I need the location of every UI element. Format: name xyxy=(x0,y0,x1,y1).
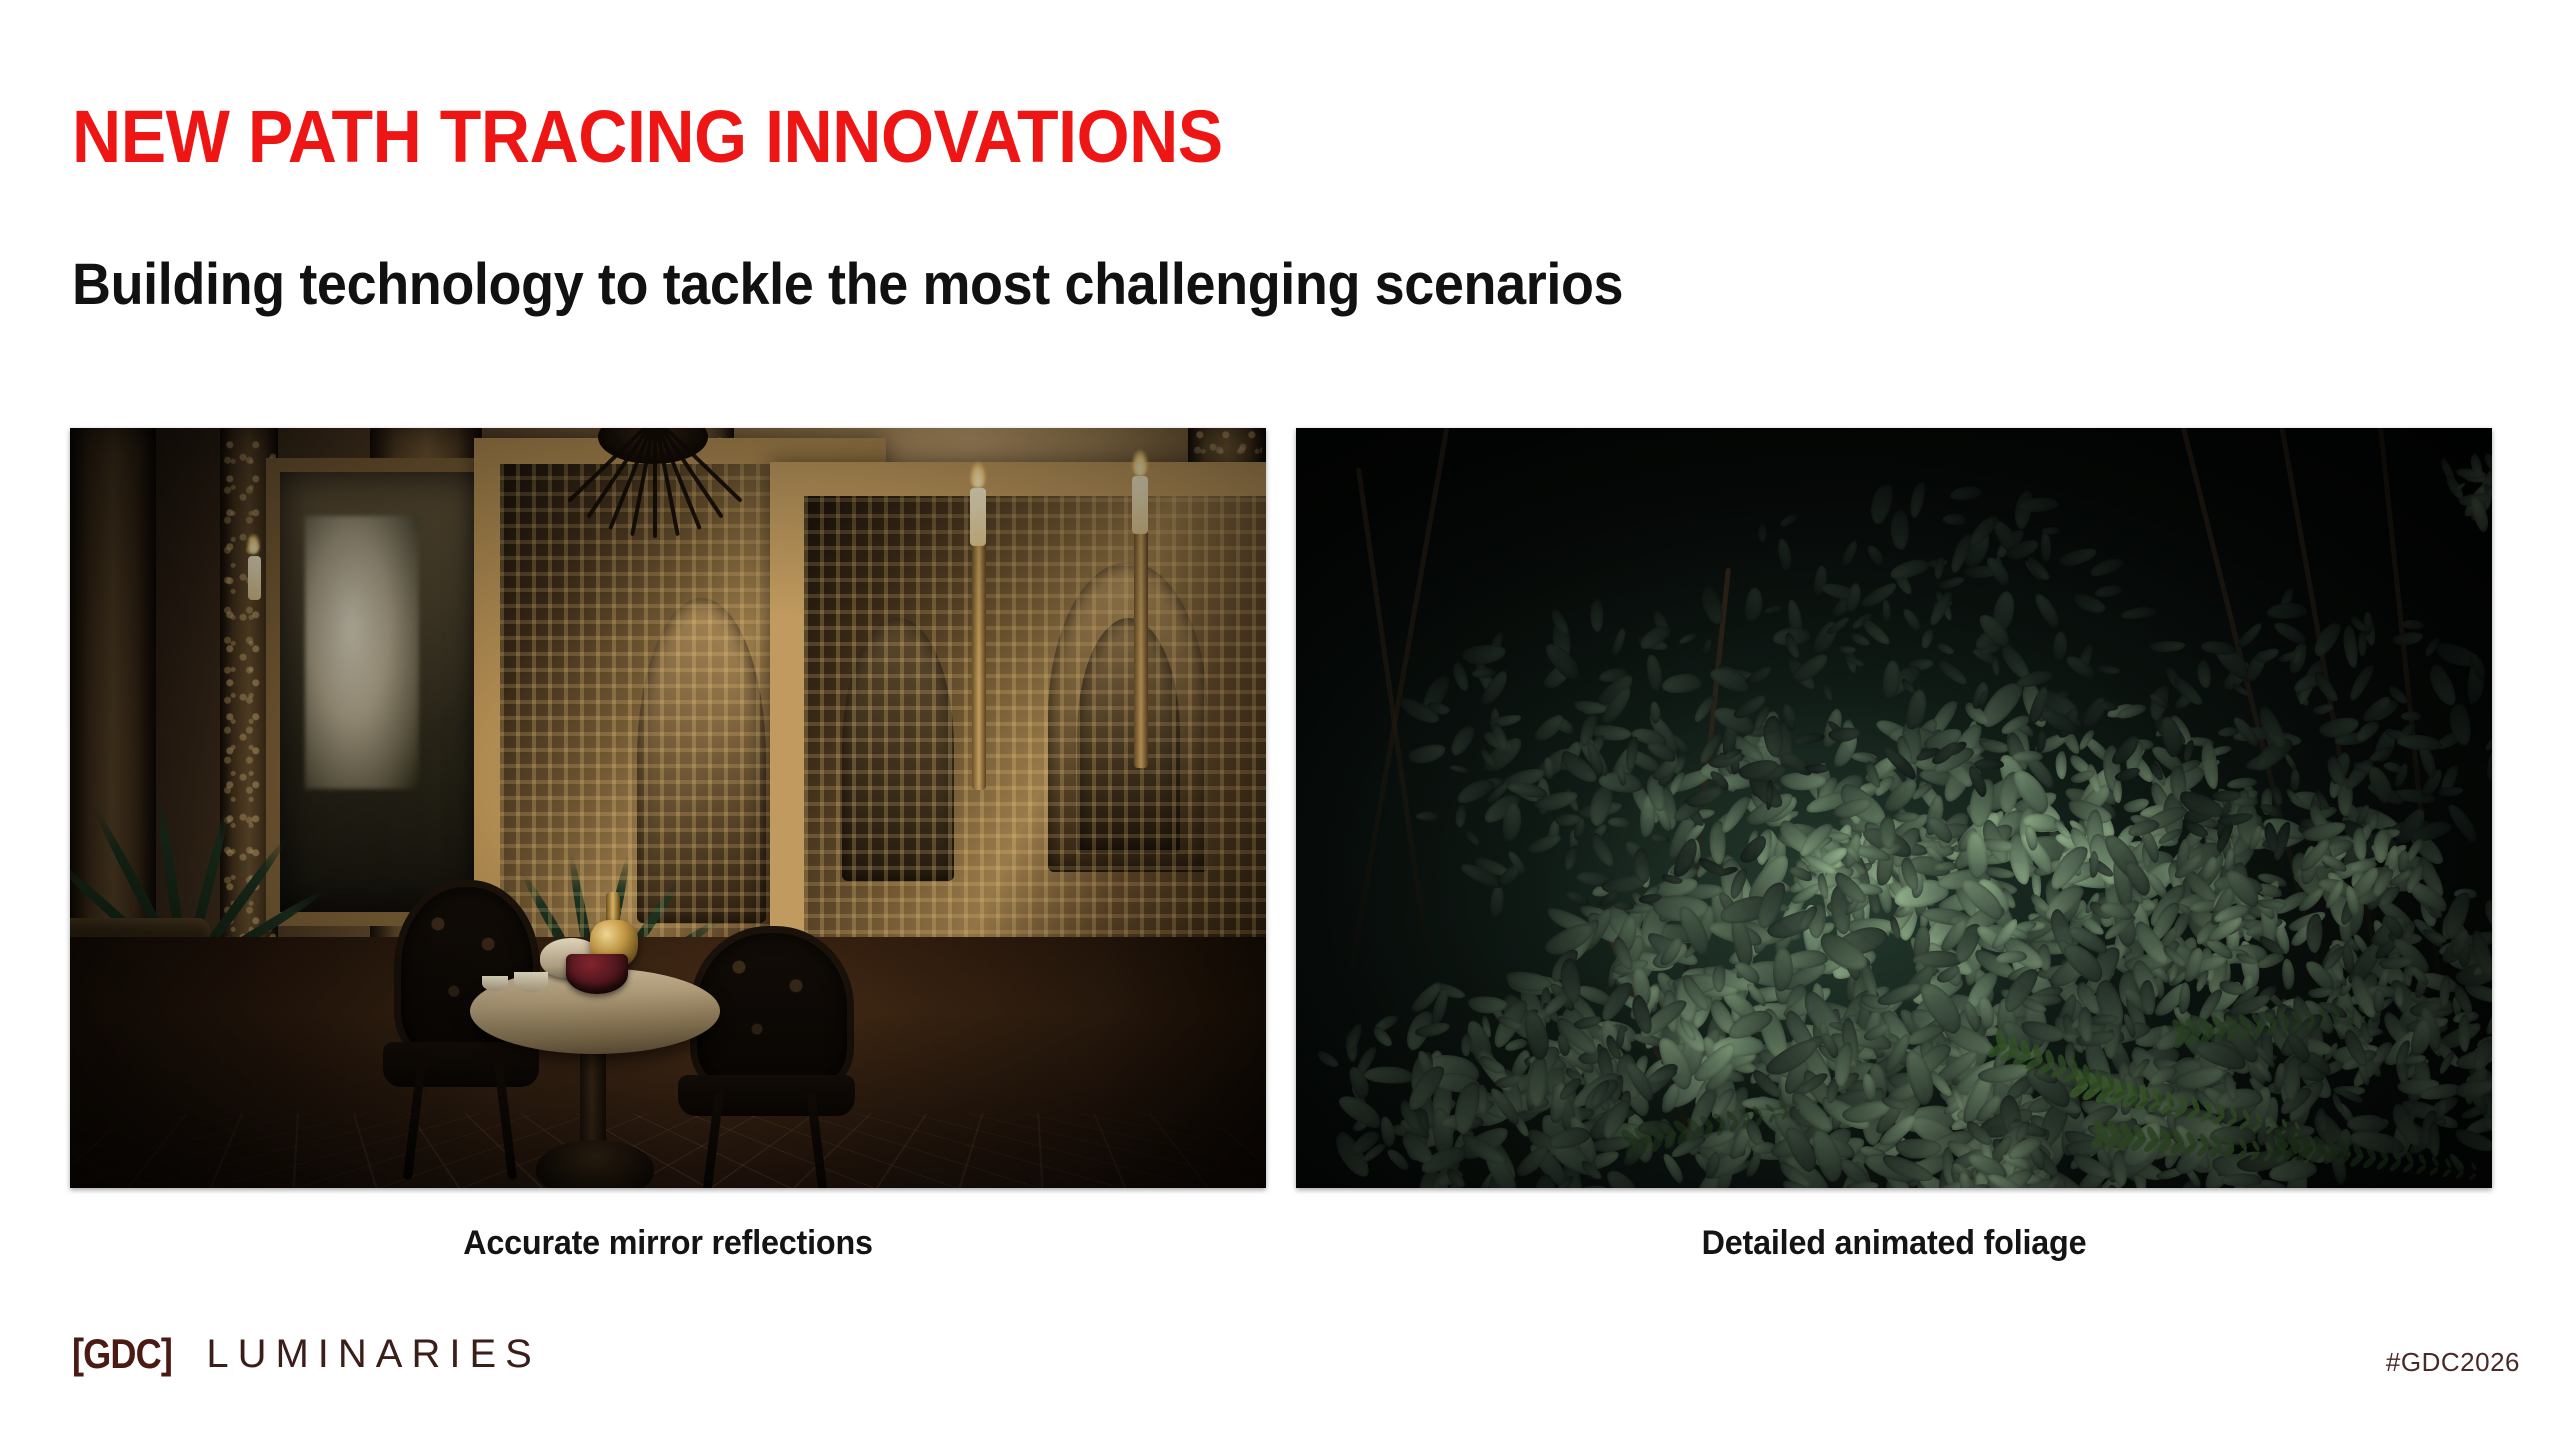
figure-mirror-reflections xyxy=(70,428,1266,1188)
gdc-luminaries-logo: [GDC] LUMINARIES xyxy=(72,1330,541,1378)
reflected-arch-inner xyxy=(1077,618,1180,853)
event-hashtag: #GDC2026 xyxy=(2386,1347,2520,1378)
page-subtitle: Building technology to tackle the most c… xyxy=(72,256,1623,314)
candle xyxy=(1132,476,1148,534)
caption-mirror-reflections: Accurate mirror reflections xyxy=(100,1224,1236,1263)
candle-flame xyxy=(247,534,260,554)
candle-flame xyxy=(1132,450,1148,476)
logo-luminaries-word: LUMINARIES xyxy=(206,1332,541,1377)
candle xyxy=(248,556,261,600)
saucer xyxy=(482,976,508,991)
leaf xyxy=(2113,778,2122,803)
candle-sconce xyxy=(972,540,986,790)
page-title: NEW PATH TRACING INNOVATIONS xyxy=(72,100,1223,174)
iron-chair-right xyxy=(690,926,840,1188)
leaf xyxy=(1893,811,1919,822)
logo-gdc-mark: [GDC] xyxy=(72,1330,172,1378)
leaf xyxy=(2347,1114,2388,1132)
candle-sconce xyxy=(1134,528,1148,768)
chandelier xyxy=(538,428,768,624)
slide-root: NEW PATH TRACING INNOVATIONS Building te… xyxy=(0,0,2560,1440)
leaf xyxy=(2056,751,2067,779)
reflected-doorway xyxy=(842,618,955,881)
floor-shading xyxy=(70,937,1266,1188)
gilded-wall-mirror xyxy=(770,462,1266,1000)
leaf xyxy=(1974,758,2004,770)
figure-animated-foliage xyxy=(1296,428,2492,1188)
scene-night-foliage xyxy=(1296,428,2492,1188)
candle xyxy=(970,488,986,546)
scene-ornate-interior xyxy=(70,428,1266,1188)
candle-flame xyxy=(970,462,986,488)
leaf xyxy=(1758,523,1766,542)
fruit-bowl xyxy=(566,954,628,994)
leaf xyxy=(1765,789,1772,810)
teacup xyxy=(514,972,548,992)
caption-animated-foliage: Detailed animated foliage xyxy=(1326,1224,2462,1263)
leaf xyxy=(2012,751,2043,763)
